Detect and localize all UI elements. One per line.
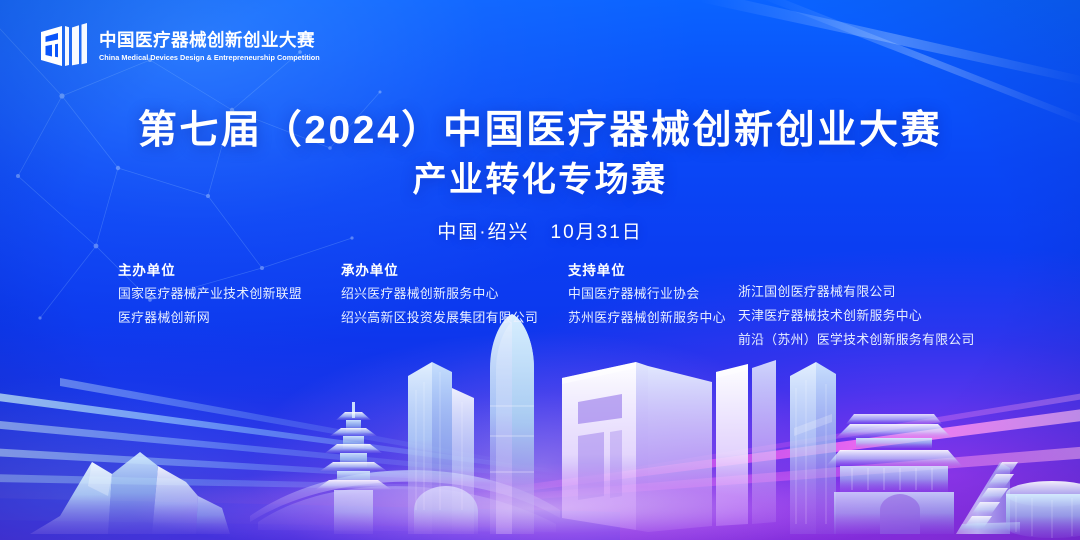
headline-line-1: 第七届（2024）中国医疗器械创新创业大赛	[0, 108, 1080, 154]
headline-block: 第七届（2024）中国医疗器械创新创业大赛 产业转化专场赛 中国·绍兴 10月3…	[0, 108, 1080, 244]
headline-line-2: 产业转化专场赛	[0, 160, 1080, 201]
organizer-item: 苏州医疗器械创新服务中心	[568, 312, 738, 325]
round-stadium	[1006, 481, 1080, 538]
skyscraper-round-top	[490, 314, 534, 534]
organizer-column-host: 主办单位 国家医疗器械产业技术创新联盟 医疗器械创新网	[118, 263, 341, 346]
organizer-item: 国家医疗器械产业技术创新联盟	[118, 288, 341, 301]
competition-logo-monument	[562, 360, 776, 532]
organizer-column-undertaker: 承办单位 绍兴医疗器械创新服务中心 绍兴高新区投资发展集团有限公司	[341, 263, 568, 346]
organizer-heading: 承办单位	[341, 263, 568, 279]
organizer-column-supporter-extra: 浙江国创医疗器械有限公司 天津医疗器械技术创新服务中心 前沿（苏州）医学技术创新…	[738, 263, 998, 346]
organizer-item: 绍兴高新区投资发展集团有限公司	[341, 312, 568, 325]
event-location-date: 中国·绍兴 10月31日	[0, 217, 1080, 244]
organizer-item: 绍兴医疗器械创新服务中心	[341, 288, 568, 301]
organizer-sections: 主办单位 国家医疗器械产业技术创新联盟 医疗器械创新网 承办单位 绍兴医疗器械创…	[0, 263, 1080, 346]
brand-logo-lockup[interactable]: 中国医疗器械创新创业大赛 China Medical Devices Desig…	[38, 22, 329, 70]
brand-name-en: China Medical Devices Design & Entrepren…	[99, 53, 320, 63]
brand-name-cn: 中国医疗器械创新创业大赛	[99, 30, 329, 51]
event-banner: 中国医疗器械创新创业大赛 China Medical Devices Desig…	[0, 0, 1080, 540]
organizer-item: 浙江国创医疗器械有限公司	[738, 286, 998, 299]
organizer-item: 医疗器械创新网	[118, 312, 341, 325]
angular-modern-pavilion	[30, 452, 230, 534]
skyscraper-twin	[408, 362, 478, 534]
traditional-gate-tower	[826, 414, 962, 534]
organizer-item: 前沿（苏州）医学技术创新服务有限公司	[738, 334, 998, 347]
organizer-heading: 主办单位	[118, 263, 341, 279]
organizer-item: 中国医疗器械行业协会	[568, 288, 738, 301]
organizer-heading: 支持单位	[568, 263, 738, 279]
organizer-item: 天津医疗器械技术创新服务中心	[738, 310, 998, 323]
glass-tower	[790, 362, 836, 534]
open-book-door-logo-icon	[38, 22, 88, 70]
organizer-column-supporter: 支持单位 中国医疗器械行业协会 苏州医疗器械创新服务中心	[568, 263, 738, 346]
